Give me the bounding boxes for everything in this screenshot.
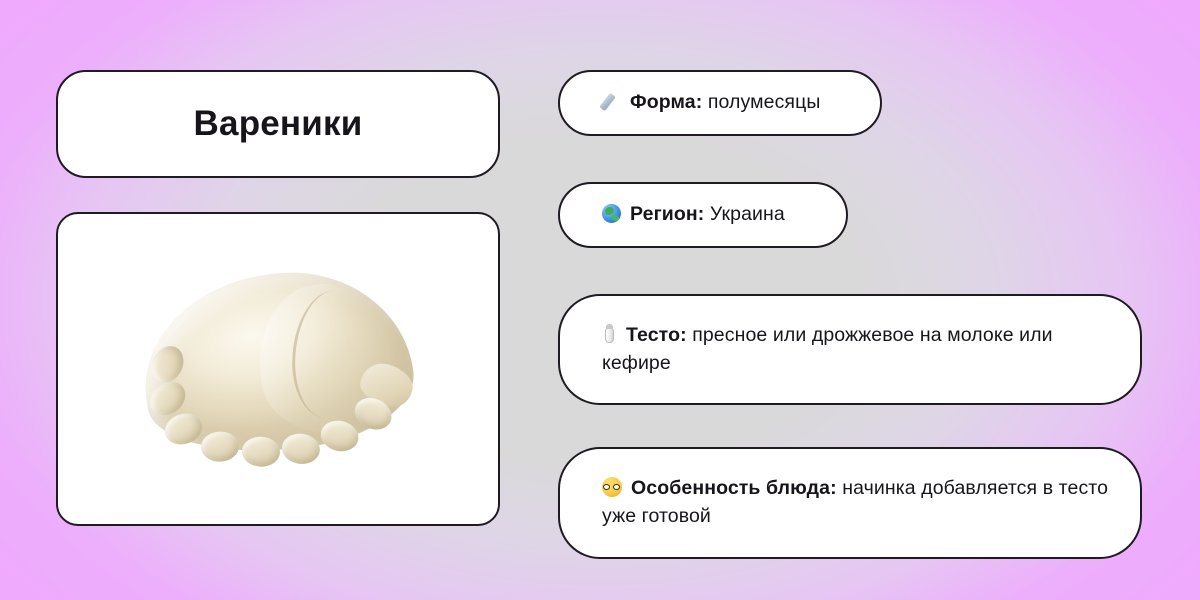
fact-card-dough: Тесто: пресное или дрожжевое на молоке и… <box>558 294 1142 405</box>
fact-label-shape: Форма: <box>630 91 702 113</box>
fact-label-specialty: Особенность блюда: <box>631 477 837 499</box>
fact-card-specialty: Особенность блюда: начинка добавляется в… <box>558 447 1142 558</box>
nerd-face-icon <box>602 477 622 497</box>
fact-label-dough: Тесто: <box>626 324 687 346</box>
fact-text-region: Регион: Украина <box>602 201 785 229</box>
page-title: Вареники <box>194 105 363 144</box>
fact-card-region: Регион: Украина <box>558 182 848 248</box>
fact-value-shape: полумесяцы <box>702 91 820 113</box>
fact-value-region: Украина <box>704 203 784 225</box>
dumpling-crimp <box>200 431 240 463</box>
infographic-canvas: Вареники Форма: полумесяцы <box>0 0 1200 600</box>
ruler-icon <box>602 92 621 111</box>
fact-label-region: Регион: <box>630 203 704 225</box>
dish-image-card <box>56 212 500 526</box>
dish-photo <box>58 214 498 524</box>
globe-icon <box>602 204 621 223</box>
salt-shaker-icon <box>602 324 617 344</box>
fact-card-shape: Форма: полумесяцы <box>558 70 882 136</box>
vareniki-illustration <box>133 258 422 479</box>
fact-list: Форма: полумесяцы Регион: Украина Тесто:… <box>558 70 1142 559</box>
dish-title-card: Вареники <box>56 70 500 178</box>
fact-text-shape: Форма: полумесяцы <box>602 89 820 117</box>
fact-text-specialty: Особенность блюда: начинка добавляется в… <box>602 475 1110 530</box>
fact-text-dough: Тесто: пресное или дрожжевое на молоке и… <box>602 322 1110 377</box>
